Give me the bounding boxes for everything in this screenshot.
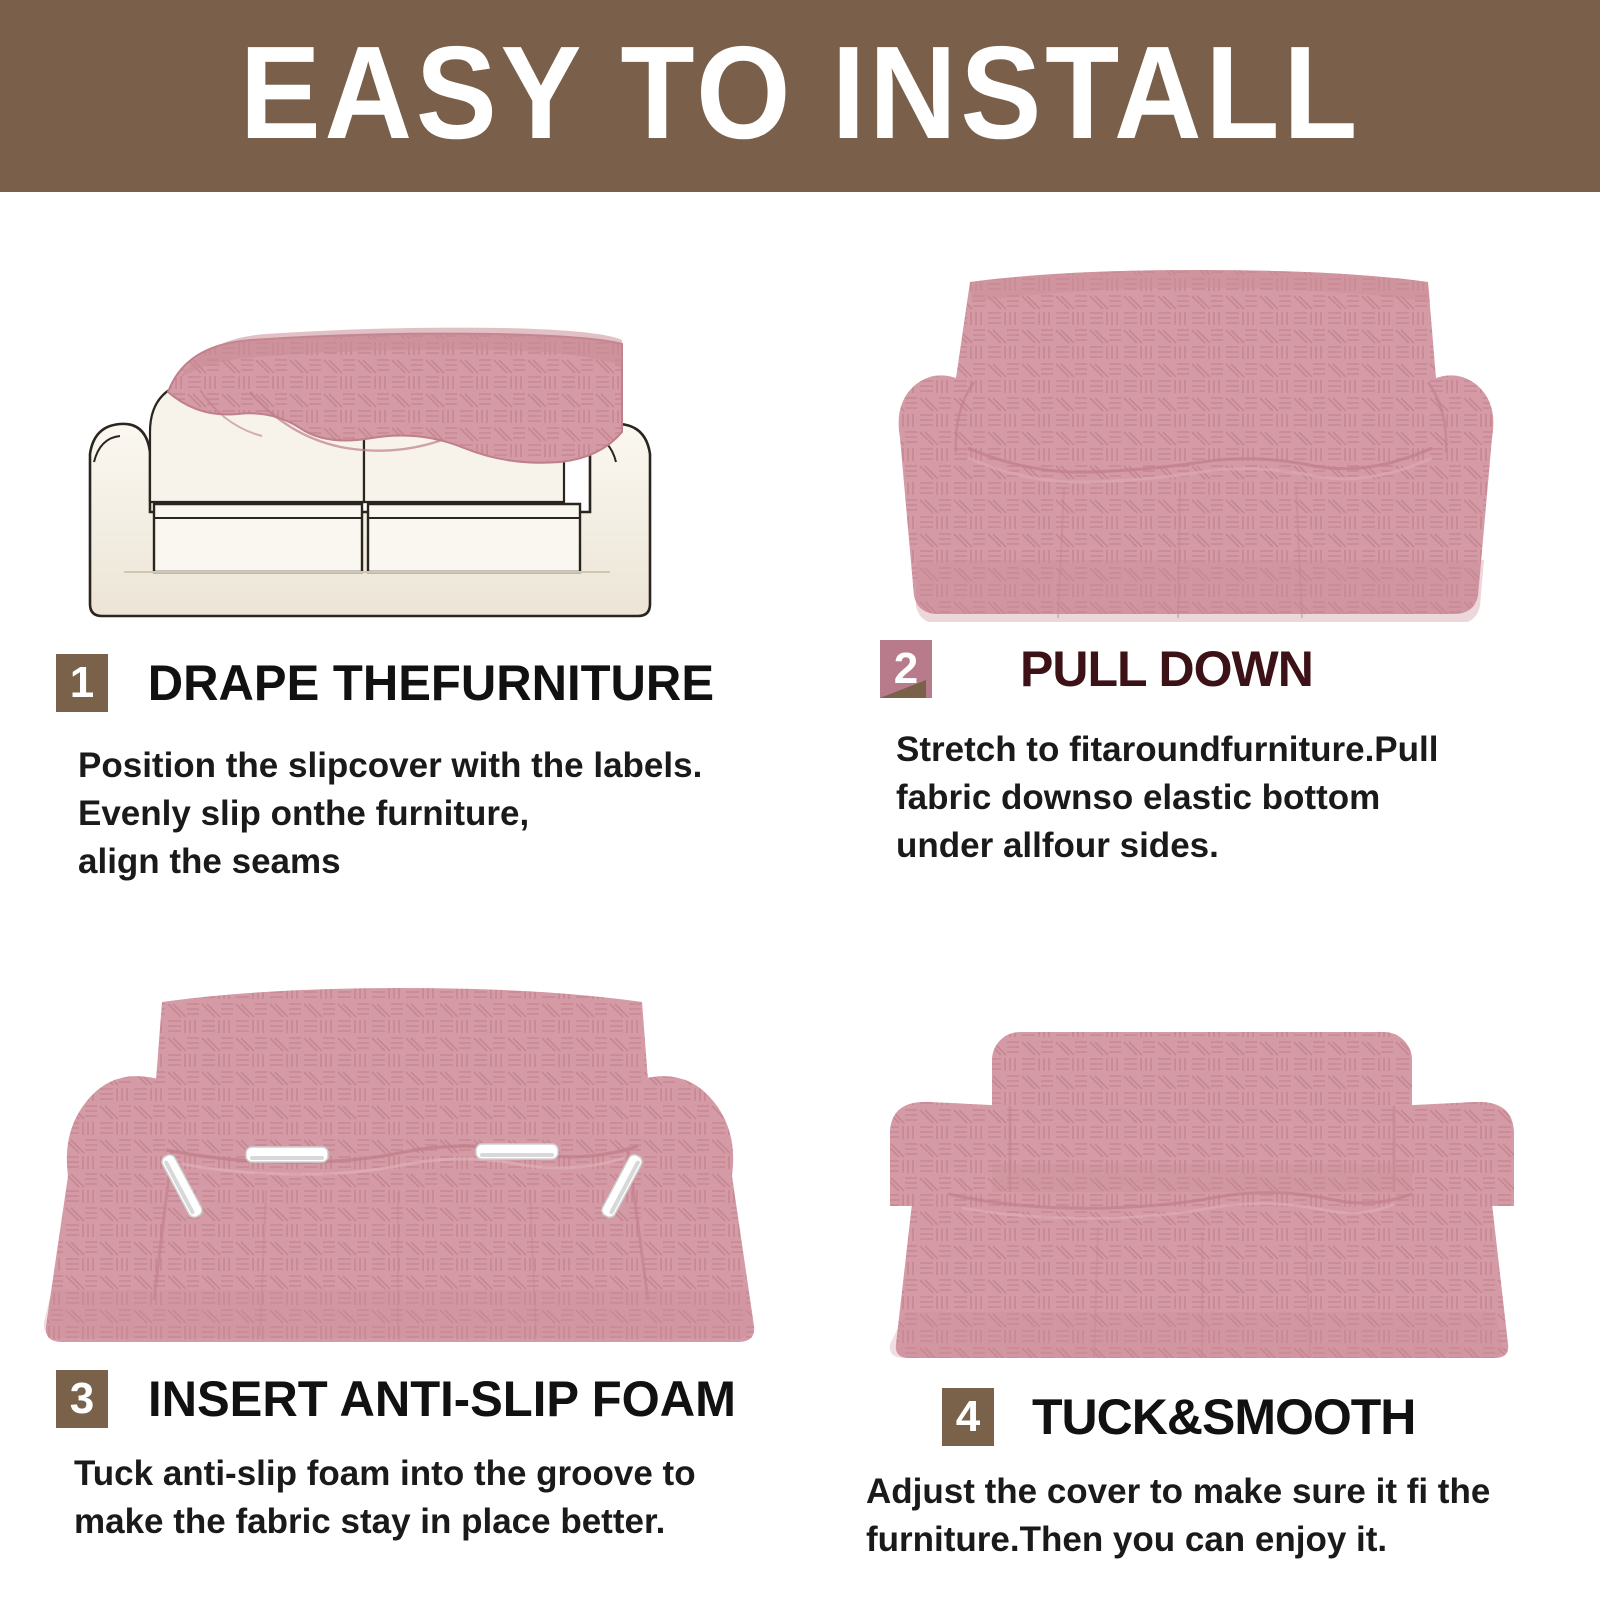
page-title: EASY TO INSTALL: [239, 27, 1360, 159]
step-4-number: 4: [956, 1395, 980, 1439]
step-card-1: 1 DRAPE THEFURNITURE Position the slipco…: [0, 192, 800, 910]
step-4-figure: [800, 910, 1600, 1378]
step-3-figure: [0, 910, 800, 1360]
step-4-heading: 4 TUCK&SMOOTH: [800, 1388, 1600, 1446]
step-1-body: Position the slipcover with the labels. …: [78, 742, 800, 886]
step-2-figure: [800, 192, 1600, 622]
step-4-title: TUCK&SMOOTH: [1032, 1390, 1415, 1444]
sofa-draped-illustration: [50, 272, 750, 632]
step-1-heading: 1 DRAPE THEFURNITURE: [0, 654, 800, 712]
steps-grid: 1 DRAPE THEFURNITURE Position the slipco…: [0, 192, 1600, 1600]
step-2-body: Stretch to fitaroundfurniture.Pull fabri…: [896, 726, 1600, 870]
step-3-heading: 3 INSERT ANTI-SLIP FOAM: [0, 1370, 800, 1428]
step-4-number-badge: 4: [942, 1388, 994, 1446]
step-1-number: 1: [70, 661, 94, 705]
step-3-number: 3: [70, 1377, 94, 1421]
sofa-foam-illustration: [30, 950, 770, 1360]
step-2-number-badge: 2: [880, 640, 932, 698]
foam-strip-left-horizontal: [246, 1147, 328, 1162]
step-3-body: Tuck anti-slip foam into the groove to m…: [74, 1450, 800, 1546]
step-2-number: 2: [894, 647, 918, 691]
step-2-title: PULL DOWN: [1020, 642, 1313, 696]
step-1-figure: [0, 192, 800, 632]
foam-strip-right-horizontal: [476, 1144, 558, 1159]
sofa-covered-illustration: [850, 242, 1550, 622]
step-2-heading: 2 PULL DOWN: [800, 640, 1600, 698]
step-1-title: DRAPE THEFURNITURE: [148, 656, 714, 710]
step-3-number-badge: 3: [56, 1370, 108, 1428]
step-card-4: 4 TUCK&SMOOTH Adjust the cover to make s…: [800, 910, 1600, 1600]
sofa-finished-illustration: [850, 988, 1550, 1378]
step-3-title: INSERT ANTI-SLIP FOAM: [148, 1372, 736, 1426]
step-4-body: Adjust the cover to make sure it fi the …: [866, 1468, 1600, 1564]
header-banner: EASY TO INSTALL: [0, 0, 1600, 192]
step-card-3: 3 INSERT ANTI-SLIP FOAM Tuck anti-slip f…: [0, 910, 800, 1600]
step-1-number-badge: 1: [56, 654, 108, 712]
step-card-2: 2 PULL DOWN Stretch to fitaroundfurnitur…: [800, 192, 1600, 910]
